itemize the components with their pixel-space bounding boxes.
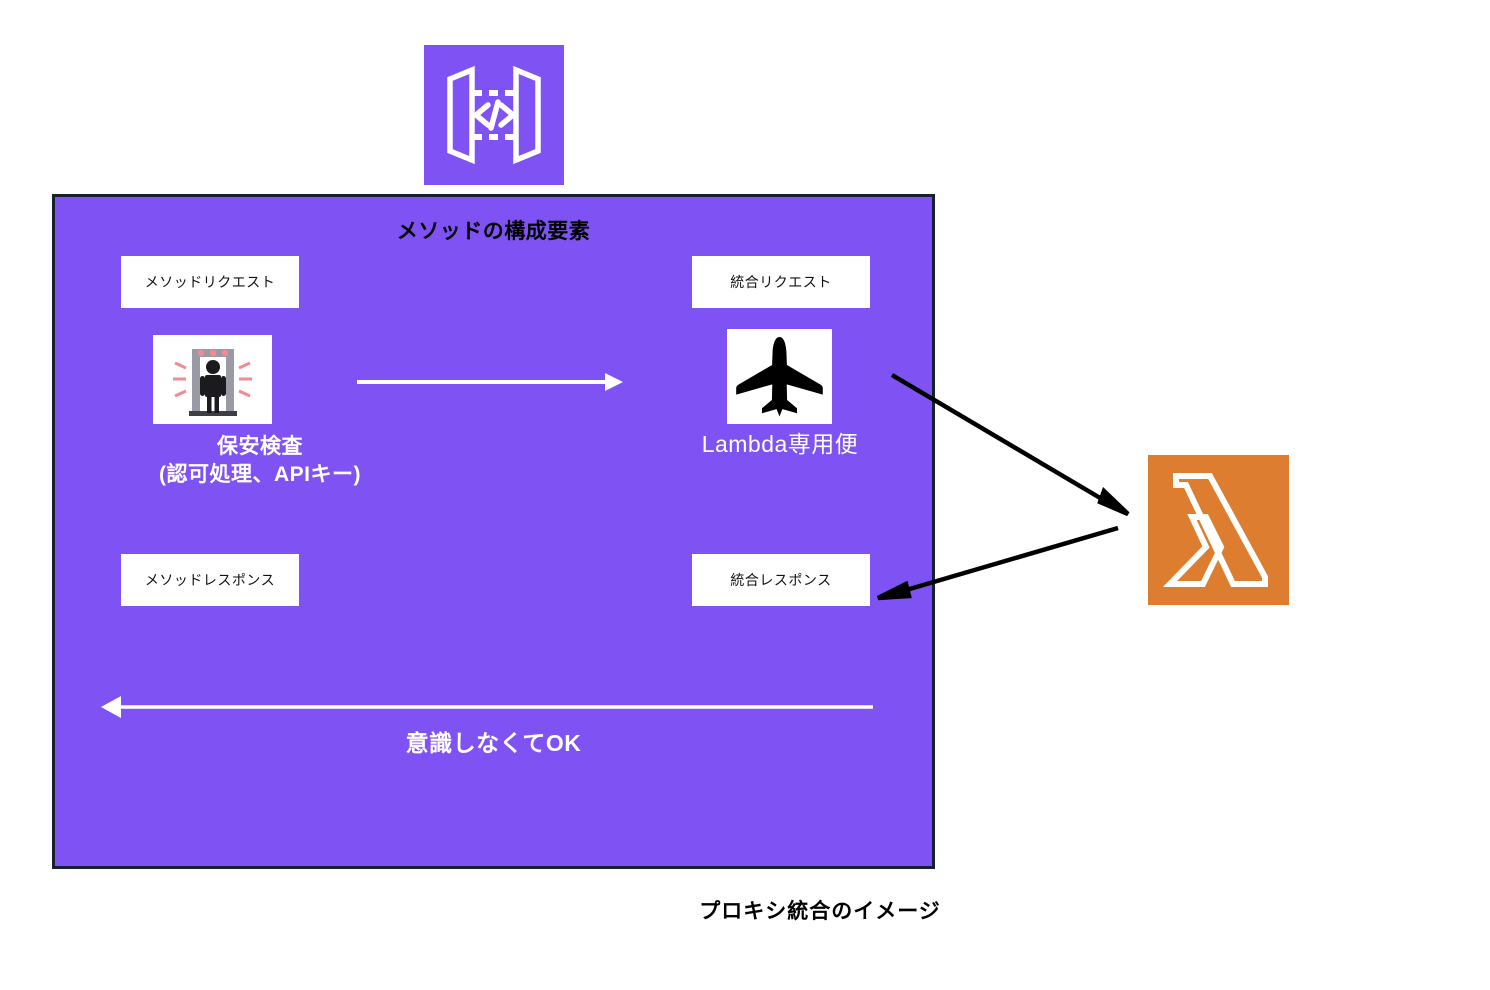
aws-lambda-glyph (1148, 455, 1289, 605)
security-gate-glyph (153, 335, 272, 424)
airplane-icon (727, 329, 832, 424)
api-gateway-glyph (424, 45, 564, 185)
method-components-box: メソッドの構成要素 メソッドリクエスト 統合リクエスト メソッドレスポンス 統合… (52, 194, 935, 869)
api-gateway-icon (424, 45, 564, 185)
airplane-glyph (727, 329, 832, 424)
aws-lambda-icon (1148, 455, 1289, 605)
integration-response-box[interactable]: 統合レスポンス (692, 554, 870, 606)
security-caption-line1: 保安検査 (55, 433, 465, 461)
integration-label: Lambda専用便 (630, 425, 930, 459)
request-flow-arrow (355, 367, 625, 397)
box-title: メソッドの構成要素 (55, 215, 932, 245)
security-caption: 保安検査 (認可処理、APIキー) (55, 433, 465, 489)
response-flow-arrow (95, 692, 875, 722)
integration-request-box[interactable]: 統合リクエスト (692, 256, 870, 308)
method-request-box[interactable]: メソッドリクエスト (121, 256, 299, 308)
method-response-box[interactable]: メソッドレスポンス (121, 554, 299, 606)
security-screening-icon (153, 335, 272, 424)
security-caption-line2: (認可処理、APIキー) (55, 461, 465, 489)
flow-note: 意識しなくてOK (55, 724, 932, 758)
figure-caption: プロキシ統合のイメージ (540, 895, 1100, 925)
arrow-to-lambda-head (1100, 491, 1128, 514)
